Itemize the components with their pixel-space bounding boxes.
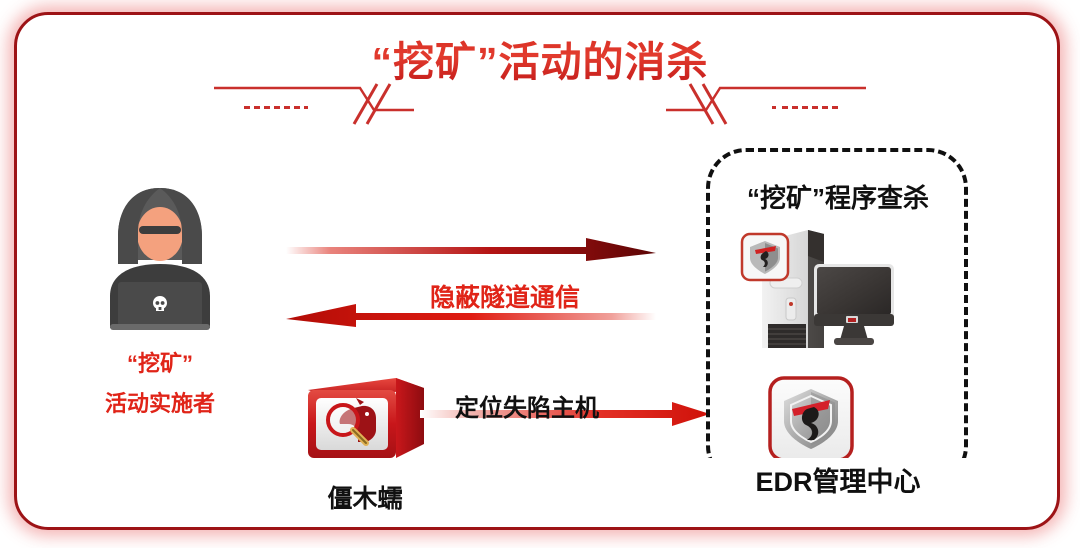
arrow-right-dark-red-icon [286,236,656,275]
tunnel-communication-label: 隐蔽隧道通信 [380,278,630,314]
desktop-computer-icon [740,222,900,360]
worm-node: 僵木蠕 [300,372,430,515]
worm-label: 僵木蠕 [300,479,430,515]
threat-actor-label: “挖矿” 活动实施者 [60,344,260,424]
diagram-canvas: “挖矿”活动的消杀 [0,0,1080,548]
banner-flash-right-icon [666,82,866,126]
title-banner: “挖矿”活动的消杀 [230,36,850,128]
locate-host-label: 定位失陷主机 [455,388,685,423]
edr-zone-title: “挖矿”程序查杀 [688,178,988,215]
banner-flash-left-icon [214,82,414,126]
threat-actor-node: “挖矿” 活动实施者 [60,178,260,424]
threat-actor-label-line1: “挖矿” [127,351,193,376]
shield-badge-icon [742,234,788,280]
edr-zone-footer: EDR管理中心 [688,458,988,501]
edr-shield-logo-icon [768,376,854,462]
threat-actor-label-line2: 活动实施者 [60,384,260,424]
page-title: “挖矿”活动的消杀 [230,36,850,88]
red-cube-trojan-icon [300,372,430,473]
hooded-hacker-icon [84,178,236,330]
